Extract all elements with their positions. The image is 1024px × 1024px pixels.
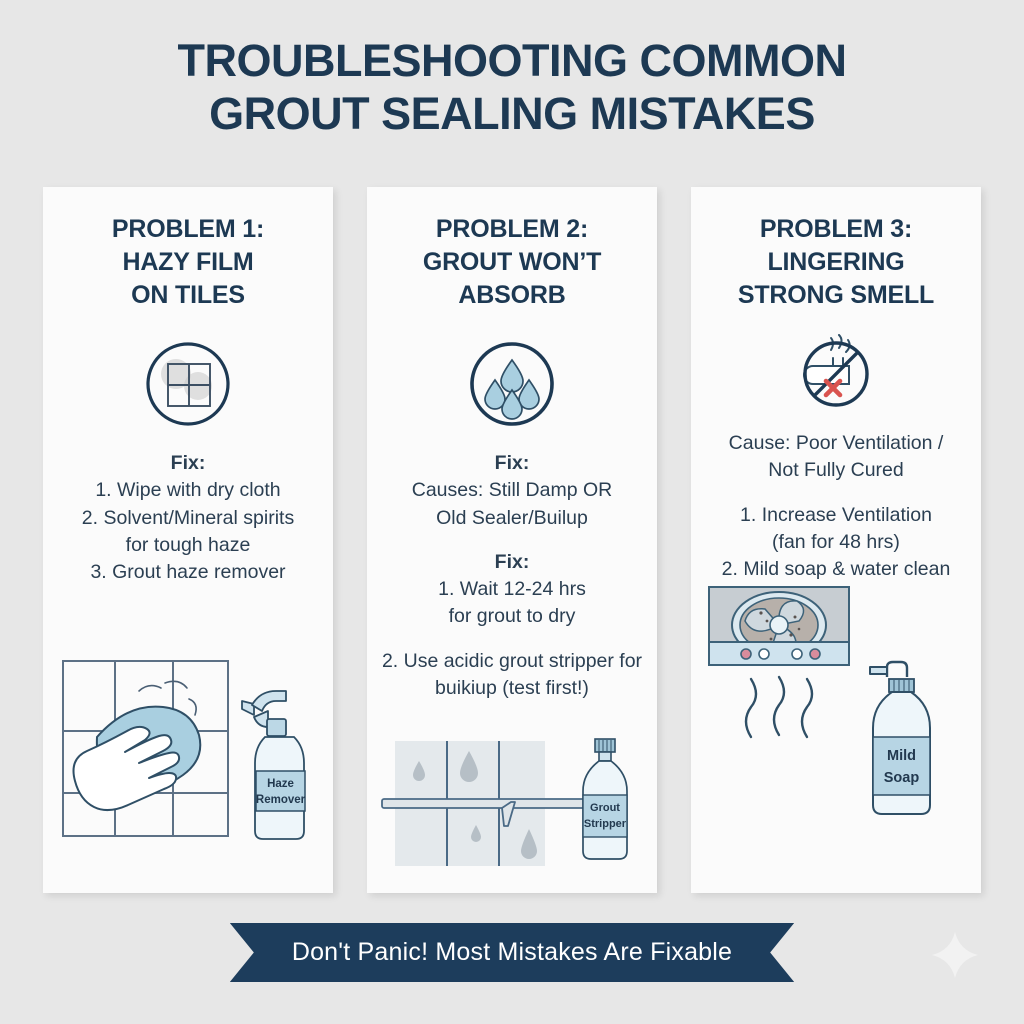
card-3-artwork: Mild Soap	[701, 583, 971, 883]
problem-card-2: PROBLEM 2: GROUT WON’T ABSORB Fix:Causes…	[367, 187, 657, 893]
stripper-bottle: Grout Stripper	[583, 739, 627, 859]
spray-bottle-label-line-2: Remover	[256, 794, 306, 806]
card-3-body-line-6: 2. Mild soap & water clean	[701, 556, 971, 583]
card-2-heading-line-2: GROUT WON’T	[423, 246, 601, 279]
card-1-body-line-3: 2. Solvent/Mineral spirits	[53, 505, 323, 532]
card-3-body-line-4: 1. Increase Ventilation	[701, 502, 971, 529]
card-1-body-line-1: Fix:	[53, 450, 323, 477]
problem-cards-row: PROBLEM 1: HAZY FILM ON TILES Fix:1. Wip…	[43, 187, 981, 893]
card-1-heading-line-2: HAZY FILM	[112, 246, 264, 279]
card-2-heading-line-1: PROBLEM 2:	[423, 213, 601, 246]
card-1-body-line-4: for tough haze	[53, 532, 323, 559]
hand-wiping-tile-illustration: Haze Remover	[53, 653, 323, 883]
card-2-body-line-1: Fix:	[377, 450, 647, 477]
card-1-heading-line-3: ON TILES	[112, 279, 264, 312]
card-2-body: Fix:Causes: Still Damp OROld Sealer/Buil…	[377, 450, 647, 702]
soap-bottle: Mild Soap	[870, 662, 930, 814]
card-2-body-line-5: Fix:	[377, 549, 647, 576]
hazy-tile-icon	[138, 334, 238, 434]
card-2-heading: PROBLEM 2: GROUT WON’T ABSORB	[423, 213, 601, 312]
no-smell-icon	[793, 334, 879, 414]
card-2-body-line-7: for grout to dry	[377, 603, 647, 630]
exhaust-fan-illustration: Mild Soap	[701, 583, 971, 883]
exhaust-fan	[709, 587, 849, 665]
card-2-body-spacer	[377, 532, 647, 549]
card-3-body-line-5: (fan for 48 hrs)	[701, 529, 971, 556]
water-droplets-icon	[462, 334, 562, 434]
soap-bottle-label-line-1: Mild	[887, 748, 916, 764]
page-title: TROUBLESHOOTING COMMON GROUT SEALING MIS…	[0, 0, 1024, 140]
card-3-heading: PROBLEM 3: LINGERING STRONG SMELL	[738, 213, 934, 312]
card-2-body-line-2: Causes: Still Damp OR	[377, 477, 647, 504]
card-2-body-line-3: Old Sealer/Builup	[377, 505, 647, 532]
page-title-line-2: GROUT SEALING MISTAKES	[0, 87, 1024, 140]
card-2-body-line-6: 1. Wait 12-24 hrs	[377, 576, 647, 603]
card-2-icon-wrap	[462, 332, 562, 436]
stripper-bottle-label-line-2: Stripper	[584, 818, 627, 830]
card-1-heading-line-1: PROBLEM 1:	[112, 213, 264, 246]
card-3-icon-wrap	[793, 332, 879, 416]
card-3-heading-line-3: STRONG SMELL	[738, 279, 934, 312]
card-2-heading-line-3: ABSORB	[423, 279, 601, 312]
card-3-body-line-2: Not Fully Cured	[701, 457, 971, 484]
card-1-body: Fix:1. Wipe with dry cloth2. Solvent/Min…	[53, 450, 323, 586]
stripper-bottle-label-line-1: Grout	[590, 802, 620, 814]
sparkle-icon	[932, 932, 978, 978]
card-1-icon-wrap	[138, 332, 238, 436]
soap-bottle-label-line-2: Soap	[884, 770, 920, 786]
card-1-body-line-2: 1. Wipe with dry cloth	[53, 477, 323, 504]
problem-card-3: PROBLEM 3: LINGERING STRONG SMELL	[691, 187, 981, 893]
card-3-heading-line-1: PROBLEM 3:	[738, 213, 934, 246]
card-2-artwork: Grout Stripper	[377, 733, 647, 883]
card-2-body-line-9: 2. Use acidic grout stripper for	[377, 648, 647, 675]
spray-bottle: Haze Remover	[242, 691, 306, 839]
beading-water-on-tile-illustration: Grout Stripper	[377, 733, 647, 883]
card-2-body-line-10: buikiup (test first!)	[377, 675, 647, 702]
card-1-heading: PROBLEM 1: HAZY FILM ON TILES	[112, 213, 264, 312]
problem-card-1: PROBLEM 1: HAZY FILM ON TILES Fix:1. Wip…	[43, 187, 333, 893]
footer-banner: Don't Panic! Most Mistakes Are Fixable	[230, 923, 794, 982]
card-3-body-spacer	[701, 485, 971, 502]
footer-banner-wrap: Don't Panic! Most Mistakes Are Fixable	[0, 923, 1024, 982]
card-3-body-line-1: Cause: Poor Ventilation /	[701, 430, 971, 457]
page-title-line-1: TROUBLESHOOTING COMMON	[0, 34, 1024, 87]
card-1-artwork: Haze Remover	[53, 653, 323, 883]
card-3-body: Cause: Poor Ventilation /Not Fully Cured…	[701, 430, 971, 583]
card-2-body-spacer	[377, 631, 647, 648]
card-1-body-line-5: 3. Grout haze remover	[53, 559, 323, 586]
spray-bottle-label-line-1: Haze	[267, 778, 294, 790]
card-3-heading-line-2: LINGERING	[738, 246, 934, 279]
